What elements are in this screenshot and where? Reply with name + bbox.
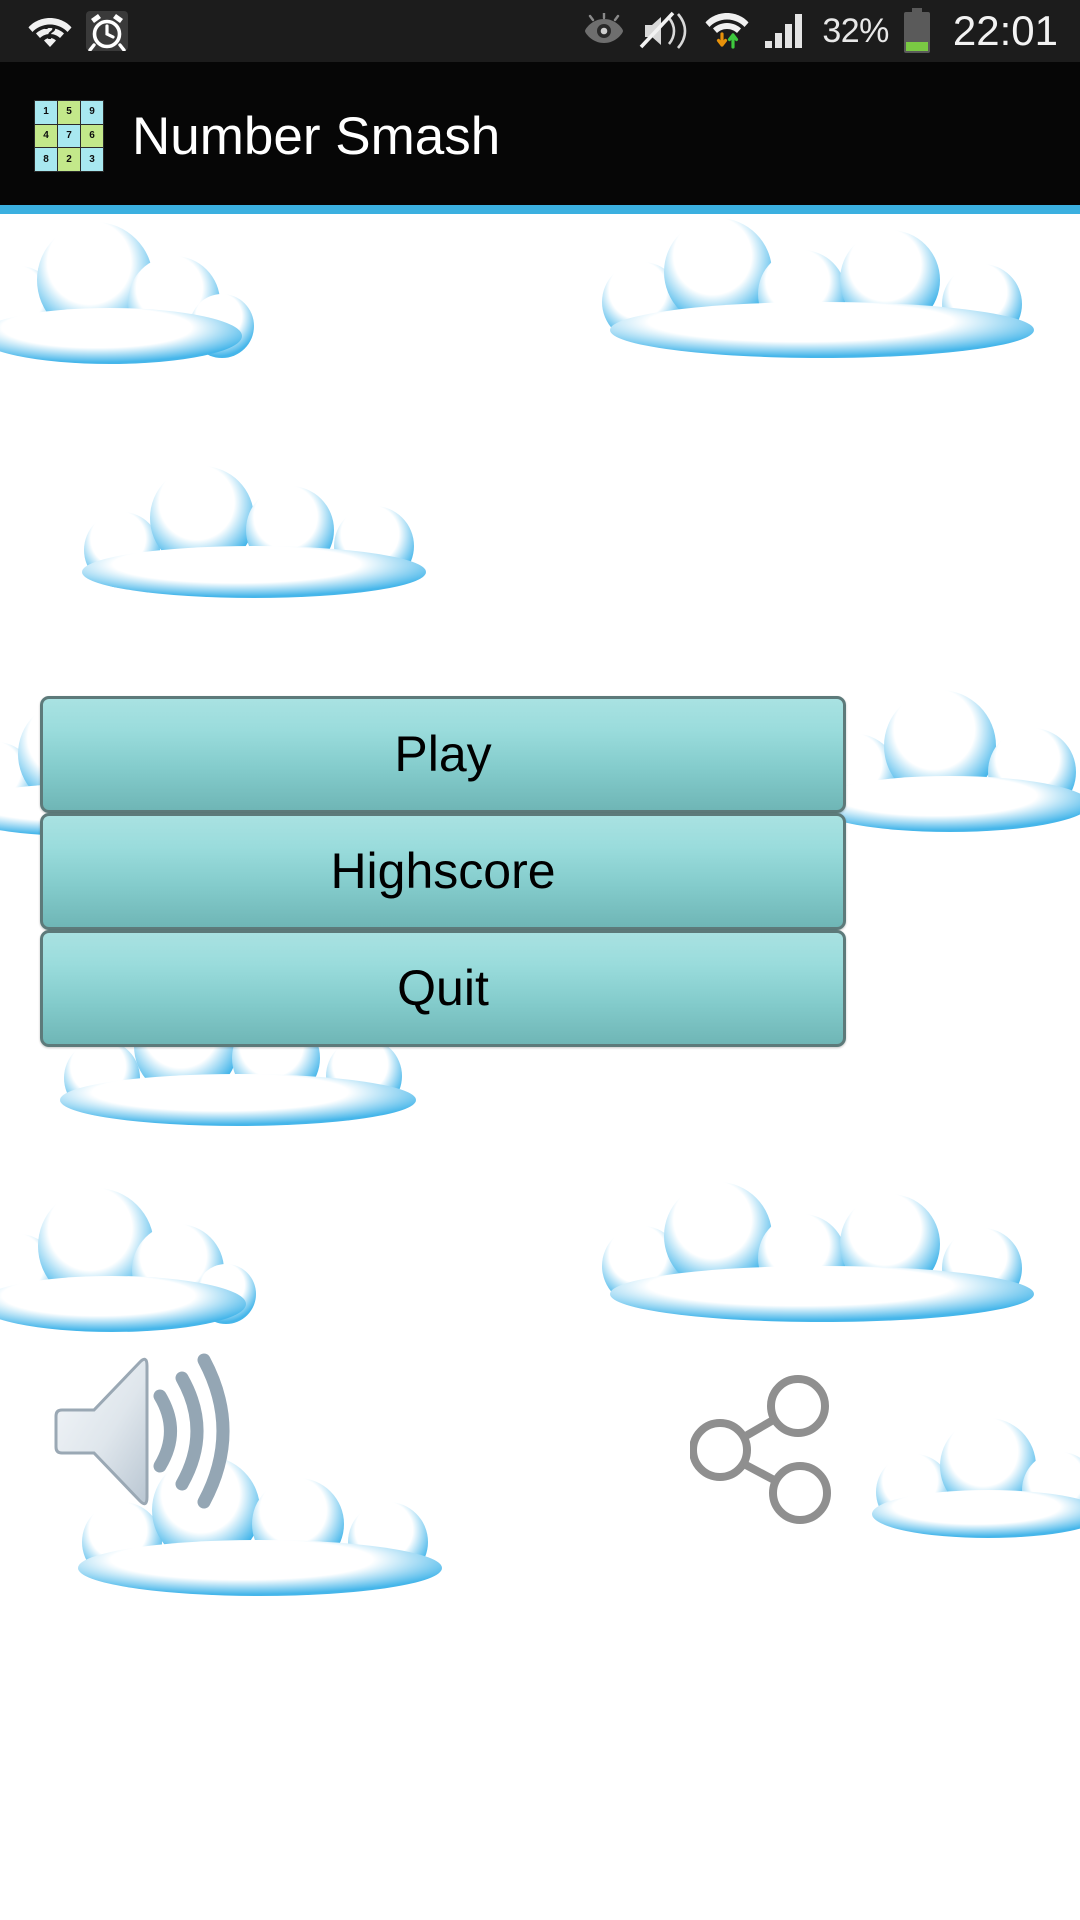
page-title: Number Smash [132,106,500,167]
icon-cell: 3 [81,148,103,171]
alarm-clock-icon [86,11,128,51]
speaker-volume-icon [48,1344,248,1519]
status-bar: ? [0,0,1080,62]
share-icon [690,1374,840,1524]
wifi-question-icon: ? [28,12,72,50]
smart-stay-eye-icon [582,13,626,49]
icon-cell: 9 [81,101,103,124]
cloud-footer-right [860,1414,1080,1544]
cloud-bottom-right [590,1182,1080,1328]
status-bar-right-icons: 32% 22:01 [582,7,1058,55]
icon-cell: 6 [81,125,103,148]
play-button[interactable]: Play [40,696,846,813]
sound-toggle-button[interactable] [48,1344,248,1519]
cloud-top-right [590,218,1080,364]
highscore-button[interactable]: Highscore [40,813,846,930]
cloud-top-left [0,216,270,366]
phone-screen: ? [0,0,1080,1920]
app-icon: 1 5 9 4 7 6 8 2 3 [34,100,104,172]
icon-cell: 2 [58,148,80,171]
share-button[interactable] [690,1374,840,1524]
icon-cell: 1 [35,101,57,124]
title-accent-divider [0,205,1080,214]
clock-label: 22:01 [953,7,1058,55]
icon-cell: 4 [35,125,57,148]
main-menu: Play Highscore Quit [40,696,846,1047]
icon-cell: 5 [58,101,80,124]
quit-button[interactable]: Quit [40,930,846,1047]
status-bar-left-icons: ? [28,11,128,51]
svg-text:?: ? [44,21,57,44]
icon-cell: 7 [58,125,80,148]
main-content: Play Highscore Quit [0,214,1080,1920]
battery-icon [902,8,932,54]
sound-mute-vibrate-icon [639,11,691,51]
app-title-bar: 1 5 9 4 7 6 8 2 3 Number Smash [0,62,1080,210]
wifi-data-transfer-icon [704,11,750,51]
icon-cell: 8 [35,148,57,171]
cellular-signal-icon [763,11,809,51]
cloud-bottom-left [0,1184,280,1334]
cloud-middle [62,464,472,604]
battery-percent-label: 32% [822,12,889,51]
